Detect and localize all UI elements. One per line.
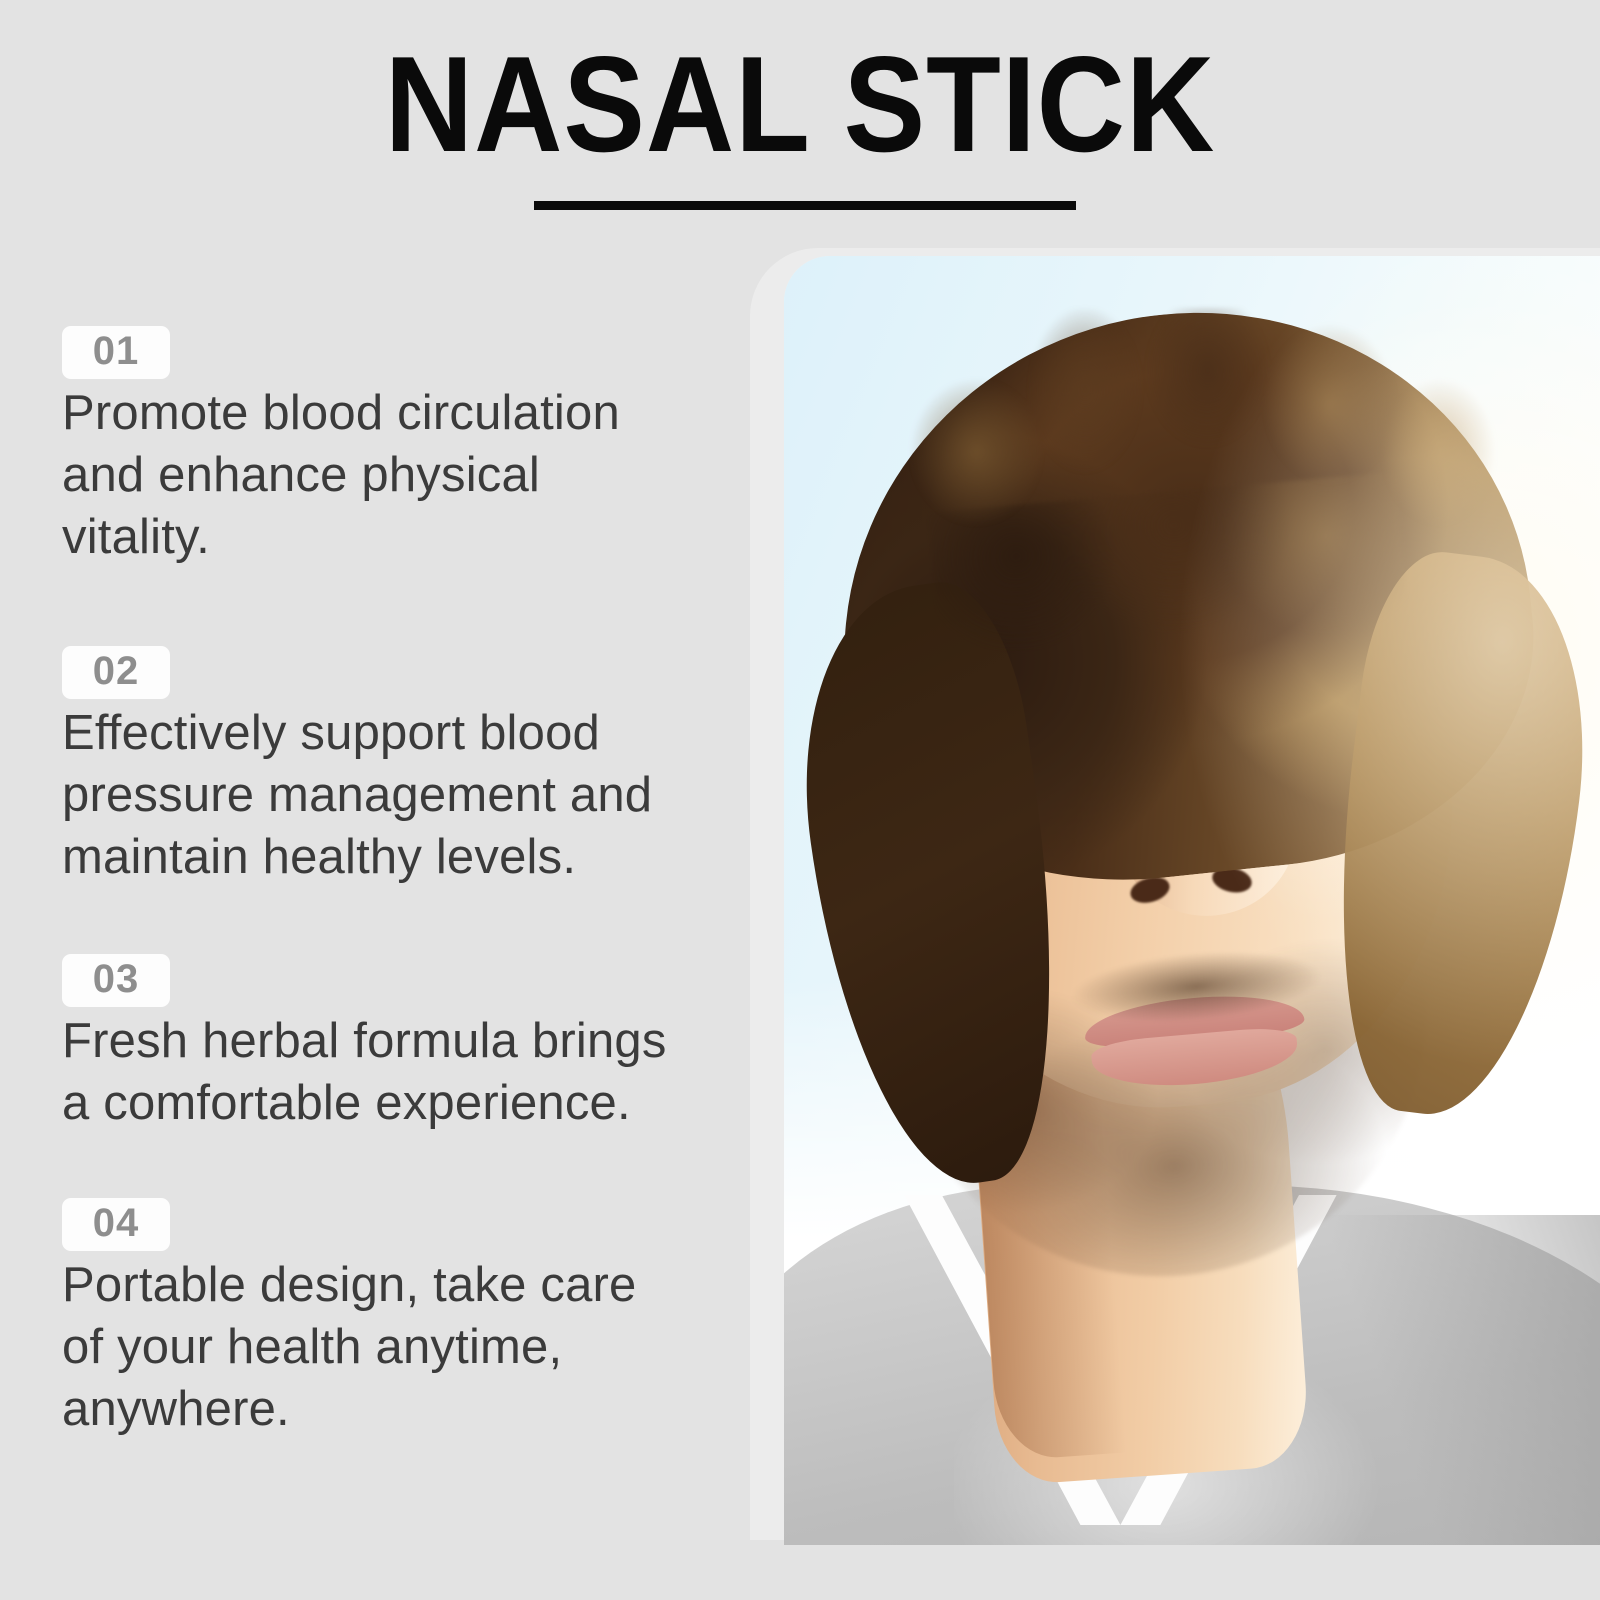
feature-number-badge: 04: [62, 1198, 170, 1251]
hair-wisps: [854, 308, 1534, 548]
title-underline-rule: [534, 201, 1076, 210]
product-poster: NASAL STICK 01 Promote blood circulation…: [0, 0, 1600, 1600]
feature-item: 04 Portable design, take care of your he…: [62, 1198, 722, 1440]
tshirt-shadow: [1270, 1215, 1600, 1545]
feature-description: Promote blood circulation and enhance ph…: [62, 383, 682, 568]
feature-description: Fresh herbal formula brings a comfortabl…: [62, 1011, 682, 1134]
portrait-figure: [784, 256, 1600, 1545]
feature-item: 02 Effectively support blood pressure ma…: [62, 646, 722, 888]
feature-number-badge: 03: [62, 954, 170, 1007]
feature-item: 03 Fresh herbal formula brings a comfort…: [62, 954, 722, 1135]
feature-number-badge: 02: [62, 646, 170, 699]
feature-description: Portable design, take care of your healt…: [62, 1255, 682, 1440]
feature-description: Effectively support blood pressure manag…: [62, 703, 682, 888]
feature-item: 01 Promote blood circulation and enhance…: [62, 326, 722, 568]
lifestyle-photo: [784, 256, 1600, 1545]
feature-number-badge: 01: [62, 326, 170, 379]
page-title: NASAL STICK: [80, 36, 1520, 172]
title-block: NASAL STICK: [0, 0, 1600, 230]
